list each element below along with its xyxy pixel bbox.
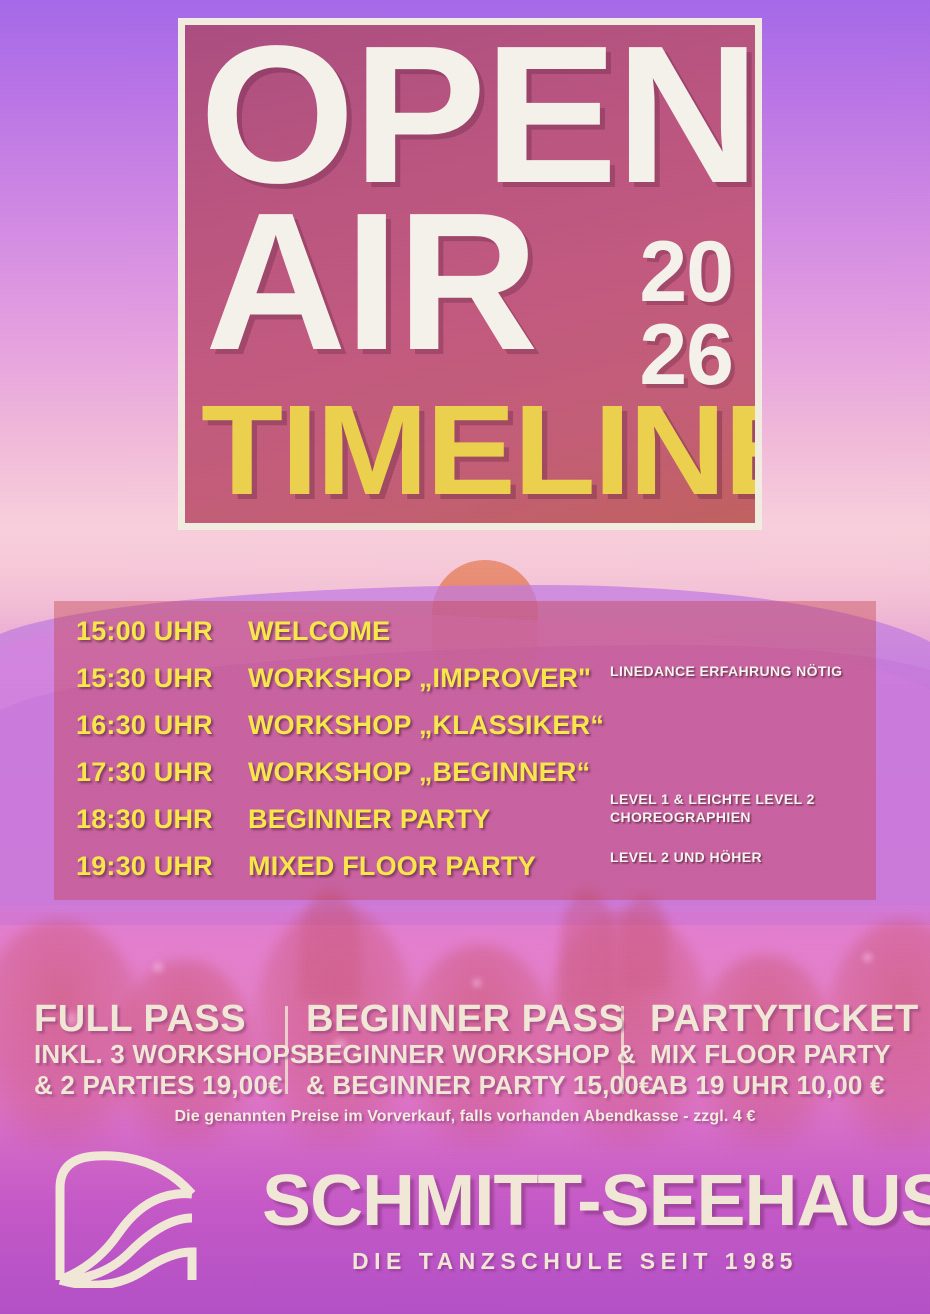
timeline-row-time: 19:30 UHR [76, 851, 213, 882]
title-line-timeline: TIMELINE [201, 393, 755, 508]
price-column-line1: INKL. 3 WORKSHOPS [34, 1040, 308, 1069]
price-column-heading: BEGINNER PASS [306, 1000, 654, 1038]
timeline-row: 15:00 UHRWELCOME [54, 611, 876, 657]
timeline-row-time: 17:30 UHR [76, 757, 213, 788]
poster-header-panel: OPEN AIR 20 26 TIMELINE [185, 25, 755, 523]
price-column: FULL PASSINKL. 3 WORKSHOPS& 2 PARTIES 19… [34, 1000, 308, 1101]
brand-footer: SCHMITT-SEEHAUS DIE TANZSCHULE SEIT 1985 [0, 1148, 930, 1288]
timeline-row-note: LINEDANCE ERFAHRUNG NÖTIG [610, 663, 842, 681]
pricing-fineprint: Die genannten Preise im Vorverkauf, fall… [0, 1108, 930, 1126]
timeline-row-time: 15:00 UHR [76, 616, 213, 647]
price-column-heading: FULL PASS [34, 1000, 308, 1038]
timeline-row-time: 15:30 UHR [76, 663, 213, 694]
timeline-row-note: LEVEL 1 & LEICHTE LEVEL 2 CHOREOGRAPHIEN [610, 791, 815, 826]
timeline-row-title: WELCOME [248, 616, 390, 647]
poster-header-frame: OPEN AIR 20 26 TIMELINE [178, 18, 762, 530]
year-badge: 20 26 [639, 231, 733, 396]
timeline-row-title: BEGINNER PARTY [248, 804, 490, 835]
timeline-panel: 15:00 UHRWELCOME15:30 UHRWORKSHOP „IMPRO… [54, 601, 876, 900]
brand-tagline: DIE TANZSCHULE SEIT 1985 [352, 1248, 798, 1275]
price-column-line2: & 2 PARTIES 19,00€ [34, 1071, 308, 1100]
brand-name: SCHMITT-SEEHAUS [262, 1160, 930, 1242]
price-column-line1: BEGINNER WORKSHOP & [306, 1040, 654, 1069]
pricing-row: FULL PASSINKL. 3 WORKSHOPS& 2 PARTIES 19… [0, 1000, 930, 1100]
timeline-row-title: WORKSHOP „IMPROVER" [248, 663, 591, 694]
poster-canvas: OPEN AIR 20 26 TIMELINE 15:00 UHRWELCOME… [0, 0, 930, 1314]
timeline-row-note: LEVEL 2 UND HÖHER [610, 849, 762, 867]
wave-swoosh-logo-icon [52, 1148, 208, 1288]
price-column: BEGINNER PASSBEGINNER WORKSHOP && BEGINN… [306, 1000, 654, 1101]
price-column-line2: AB 19 UHR 10,00 € [650, 1071, 919, 1100]
year-top: 20 [639, 231, 733, 314]
title-line-air: AIR [205, 200, 537, 365]
timeline-row-time: 18:30 UHR [76, 804, 213, 835]
price-column: PARTYTICKETMIX FLOOR PARTYAB 19 UHR 10,0… [650, 1000, 919, 1101]
timeline-row: 16:30 UHRWORKSHOP „KLASSIKER“ [54, 705, 876, 751]
price-column-heading: PARTYTICKET [650, 1000, 919, 1038]
timeline-row-title: WORKSHOP „BEGINNER“ [248, 757, 590, 788]
timeline-row-time: 16:30 UHR [76, 710, 213, 741]
price-column-line1: MIX FLOOR PARTY [650, 1040, 919, 1069]
timeline-row-title: MIXED FLOOR PARTY [248, 851, 536, 882]
price-column-line2: & BEGINNER PARTY 15,00€ [306, 1071, 654, 1100]
timeline-row-title: WORKSHOP „KLASSIKER“ [248, 710, 604, 741]
